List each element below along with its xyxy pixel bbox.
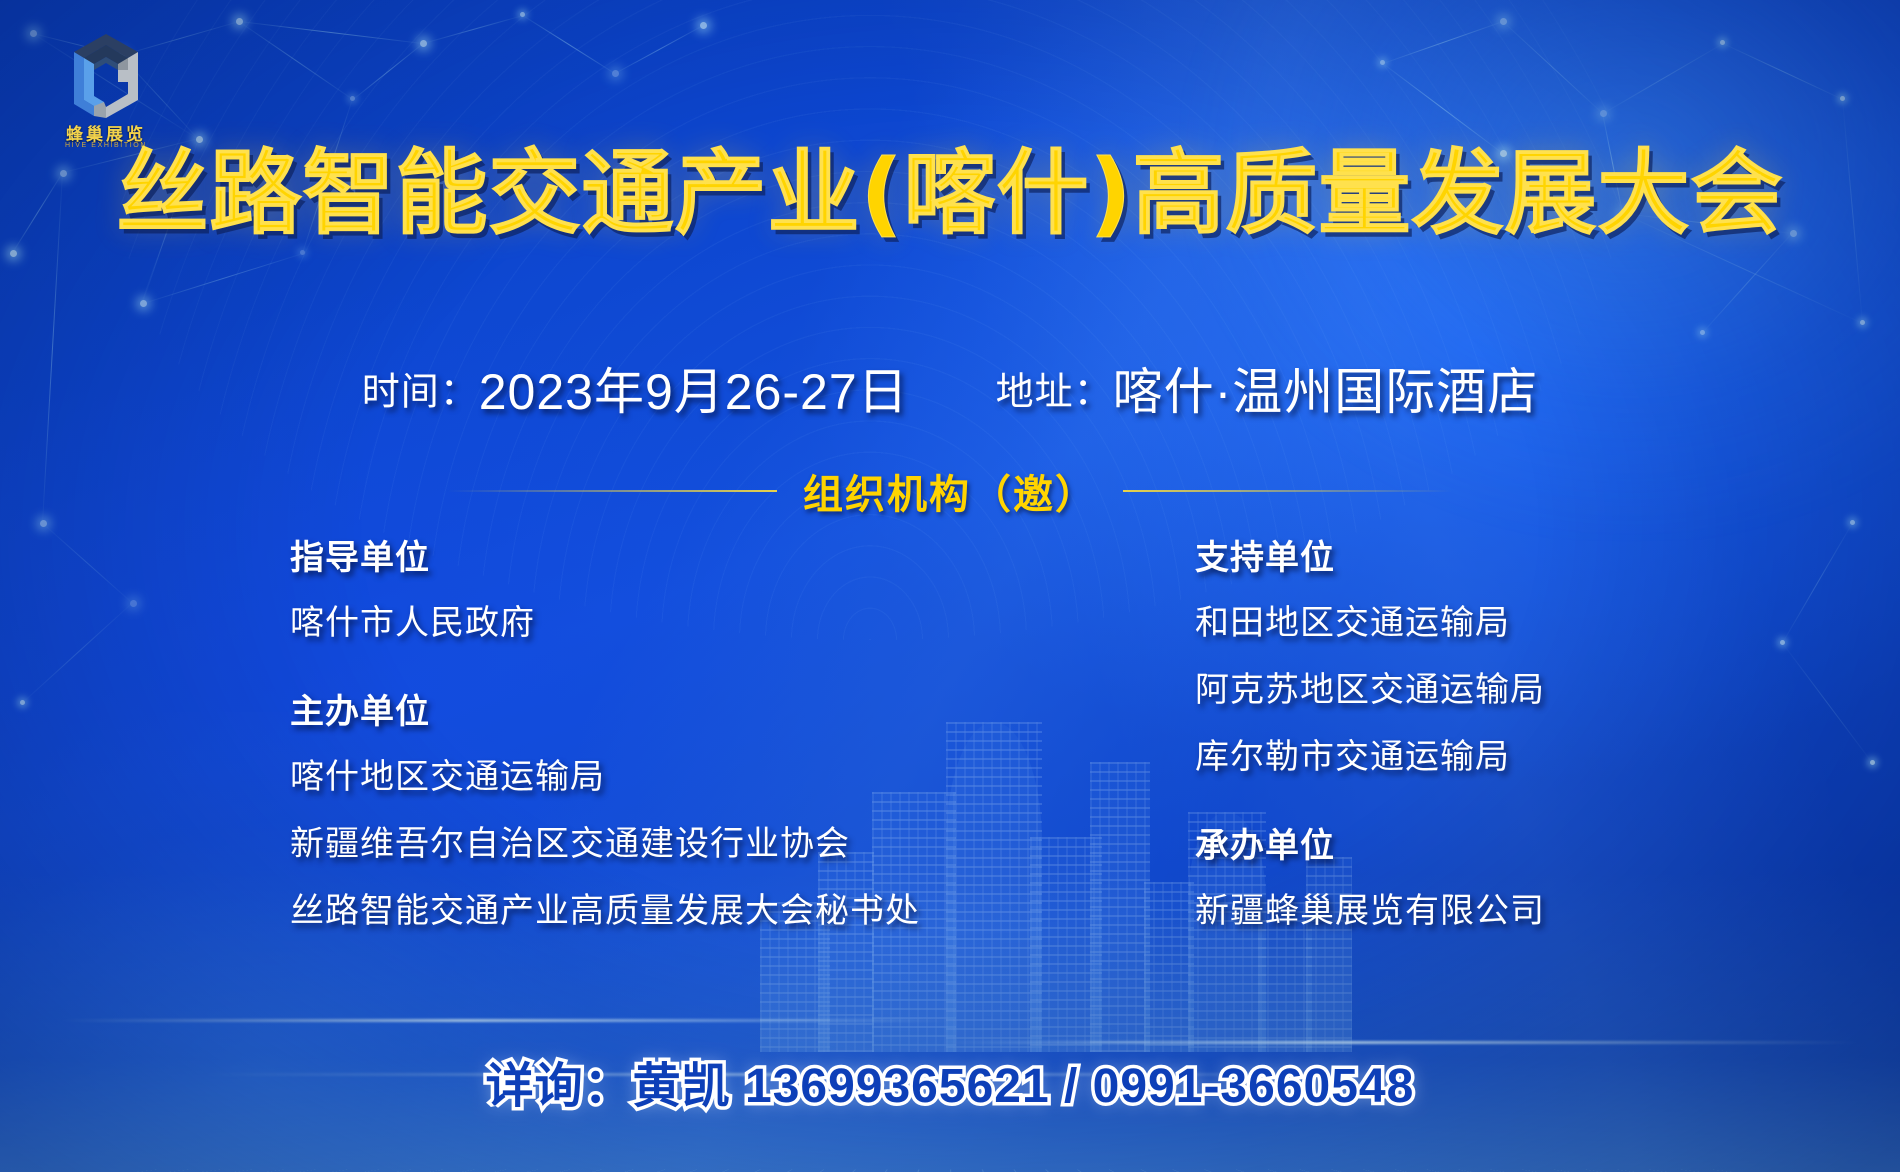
organization-item: 库尔勒市交通运输局 — [1195, 729, 1545, 778]
network-node — [612, 70, 619, 77]
organization-group: 指导单位喀什市人民政府 — [290, 530, 920, 644]
network-edge — [238, 21, 353, 100]
group-spacer — [290, 662, 920, 684]
organization-group-title: 承办单位 — [1195, 818, 1545, 867]
organization-group: 承办单位新疆蜂巢展览有限公司 — [1195, 818, 1545, 932]
organization-group-title: 支持单位 — [1195, 530, 1545, 579]
organization-item: 喀什市人民政府 — [290, 595, 920, 644]
organizations-heading-label: 组织机构（邀） — [803, 462, 1097, 520]
contact-line: 详询：黄凯 13699365621 / 0991-3660548 — [0, 1046, 1900, 1116]
page-title: 丝路智能交通产业(喀什)高质量发展大会 — [0, 148, 1900, 240]
network-node — [420, 40, 427, 47]
network-edge — [522, 15, 615, 74]
group-spacer — [1195, 796, 1545, 818]
time-label: 时间： — [362, 372, 479, 414]
network-edge — [239, 21, 423, 44]
network-edge — [353, 43, 424, 100]
network-edge — [423, 15, 523, 44]
organization-group-title: 指导单位 — [290, 530, 920, 579]
light-beam — [940, 1041, 1860, 1044]
network-node — [300, 250, 305, 255]
network-edge — [143, 253, 303, 304]
heading-rule-left — [447, 490, 777, 492]
conference-poster: 蜂巢展览 HIVE EXHIBITION 丝路智能交通产业(喀什)高质量发展大会… — [0, 0, 1900, 1172]
organizations-heading: 组织机构（邀） — [0, 462, 1900, 520]
organization-item: 喀什地区交通运输局 — [290, 749, 920, 798]
event-meta: 时间：2023年9月26-27日 地址：喀什·温州国际酒店 — [0, 352, 1900, 424]
network-node — [140, 300, 147, 307]
address-label: 地址： — [996, 372, 1113, 414]
network-node — [700, 22, 707, 29]
address-value: 喀什·温州国际酒店 — [1113, 364, 1539, 420]
time-value: 2023年9月26-27日 — [479, 364, 909, 420]
background-glow-top-right — [1180, 0, 1900, 540]
organization-item: 丝路智能交通产业高质量发展大会秘书处 — [290, 883, 920, 932]
network-node — [40, 520, 47, 527]
organization-group: 支持单位和田地区交通运输局阿克苏地区交通运输局库尔勒市交通运输局 — [1195, 530, 1545, 778]
network-edge — [615, 25, 703, 74]
organizations-column-right: 支持单位和田地区交通运输局阿克苏地区交通运输局库尔勒市交通运输局承办单位新疆蜂巢… — [1195, 530, 1545, 950]
network-node — [520, 12, 525, 17]
organization-item: 阿克苏地区交通运输局 — [1195, 662, 1545, 711]
network-node — [10, 250, 17, 257]
network-node — [350, 96, 355, 101]
organization-item: 新疆蜂巢展览有限公司 — [1195, 883, 1545, 932]
organizations-column-left: 指导单位喀什市人民政府主办单位喀什地区交通运输局新疆维吾尔自治区交通建设行业协会… — [290, 530, 920, 950]
hive-cube-logo-icon — [58, 30, 154, 122]
organizations-columns: 指导单位喀什市人民政府主办单位喀什地区交通运输局新疆维吾尔自治区交通建设行业协会… — [0, 530, 1900, 990]
network-node — [236, 18, 243, 25]
light-beam — [60, 1019, 960, 1022]
organization-item: 和田地区交通运输局 — [1195, 595, 1545, 644]
organization-group: 主办单位喀什地区交通运输局新疆维吾尔自治区交通建设行业协会丝路智能交通产业高质量… — [290, 684, 920, 932]
logo: 蜂巢展览 HIVE EXHIBITION — [36, 28, 176, 148]
organization-group-title: 主办单位 — [290, 684, 920, 733]
organization-item: 新疆维吾尔自治区交通建设行业协会 — [290, 816, 920, 865]
heading-rule-right — [1123, 490, 1453, 492]
